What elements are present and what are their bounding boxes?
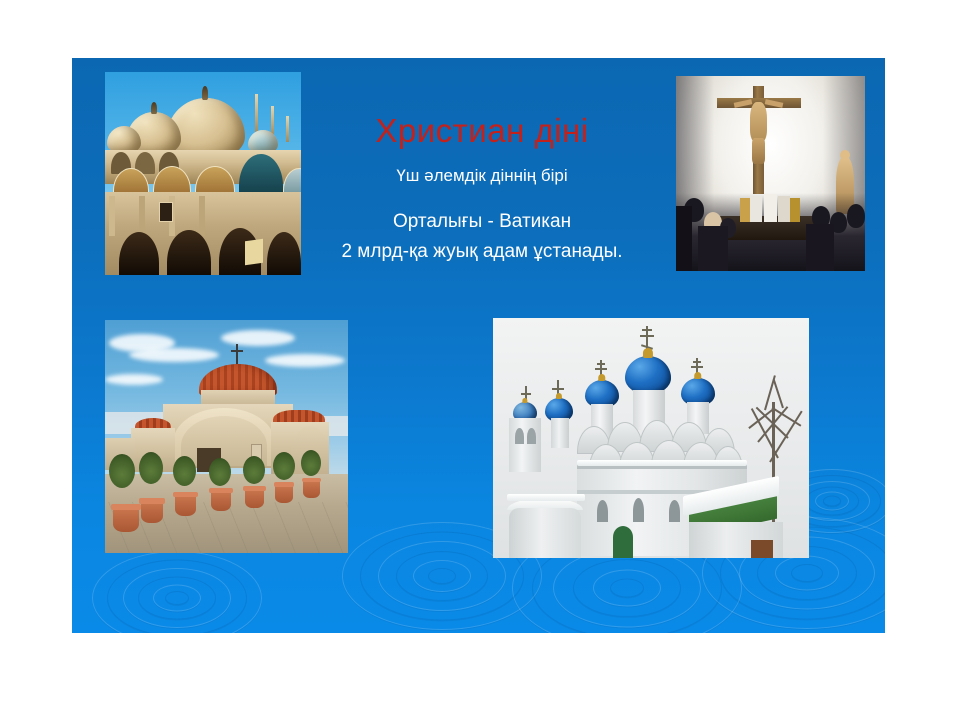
russian-orthodox-church-photo	[493, 318, 809, 558]
slide-viewer: Христиан діні Үш әлемдік діннің бірі Орт…	[0, 0, 960, 720]
presentation-slide: Христиан діні Үш әлемдік діннің бірі Орт…	[72, 58, 885, 633]
ripple-decoration-5	[92, 548, 262, 633]
cyprus-church-photo	[105, 320, 348, 553]
slide-text-block: Христиан діні Үш әлемдік діннің бірі Орт…	[282, 113, 682, 263]
page-title: Христиан діні	[282, 113, 682, 149]
subtitle-line-3: 2 млрд-қа жуық адам ұстанады.	[282, 241, 682, 263]
church-crucifix-photo	[676, 76, 865, 271]
st-marks-basilica-photo	[105, 72, 301, 275]
subtitle-line-1: Үш әлемдік діннің бірі	[282, 166, 682, 186]
subtitle-line-2: Орталығы - Ватикан	[282, 211, 682, 233]
